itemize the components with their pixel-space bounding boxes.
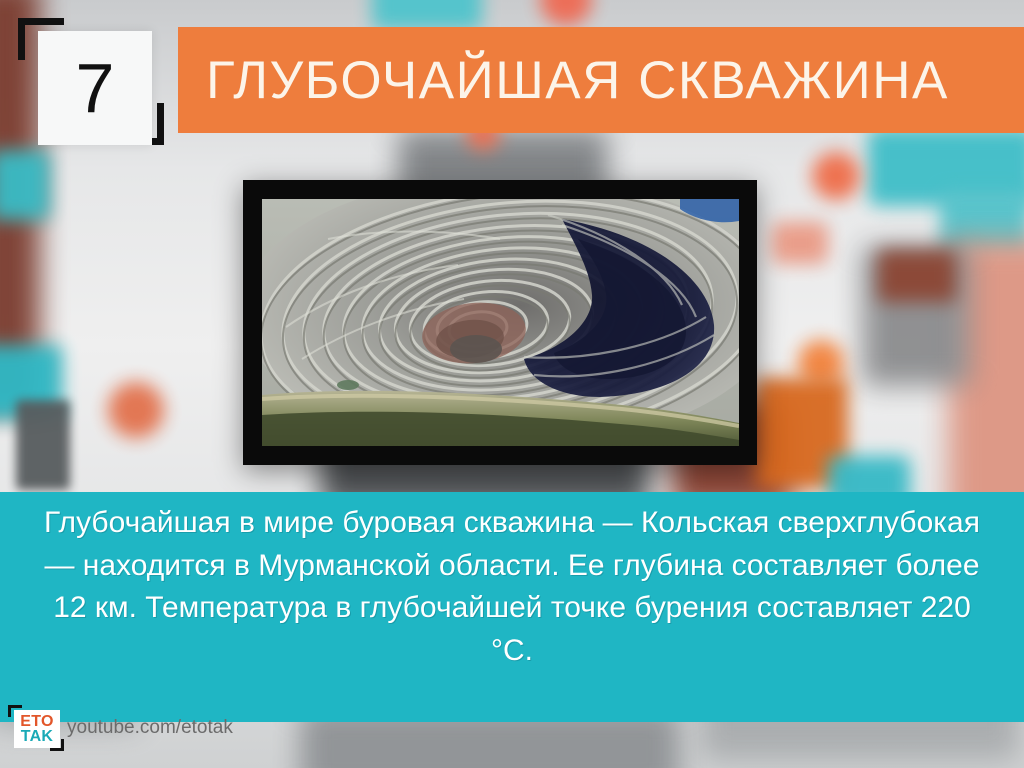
caption-text: Глубочайшая в мире буровая скважина — Ко… [32,502,992,672]
channel-logo[interactable]: ETO TAK youtube.com/etotak [8,702,218,754]
logo-word-tak: TAK [21,729,54,744]
photo-frame [243,180,757,465]
background-shape-salmon-right-small [772,222,828,264]
background-shape-brown-right [878,250,956,302]
logo-mark-icon: ETO TAK [8,705,64,751]
photo-open-pit-mine [262,199,739,446]
caption-band: Глубочайшая в мире буровая скважина — Ко… [0,492,1024,722]
open-pit-mine-illustration [262,199,739,446]
logo-url-text: youtube.com/etotak [67,717,233,739]
page-title: ГЛУБОЧАЙШАЯ СКВАЖИНА [178,54,949,107]
background-shape-teal-top [372,0,482,30]
slide-number-badge: 7 [14,10,164,150]
slide-root: 7 ГЛУБОЧАЙШАЯ СКВАЖИНА [0,0,1024,768]
logo-box: ETO TAK [14,710,60,748]
background-shape-coral-left [108,382,164,438]
background-shape-coral-right-dot [812,152,860,200]
background-shape-teal-left-top [0,150,50,220]
title-bar: ГЛУБОЧАЙШАЯ СКВАЖИНА [178,27,1024,133]
slide-number-text: 7 [38,31,152,145]
background-shape-dark-left-low [16,400,70,490]
logo-word-eto: ETO [20,714,54,729]
